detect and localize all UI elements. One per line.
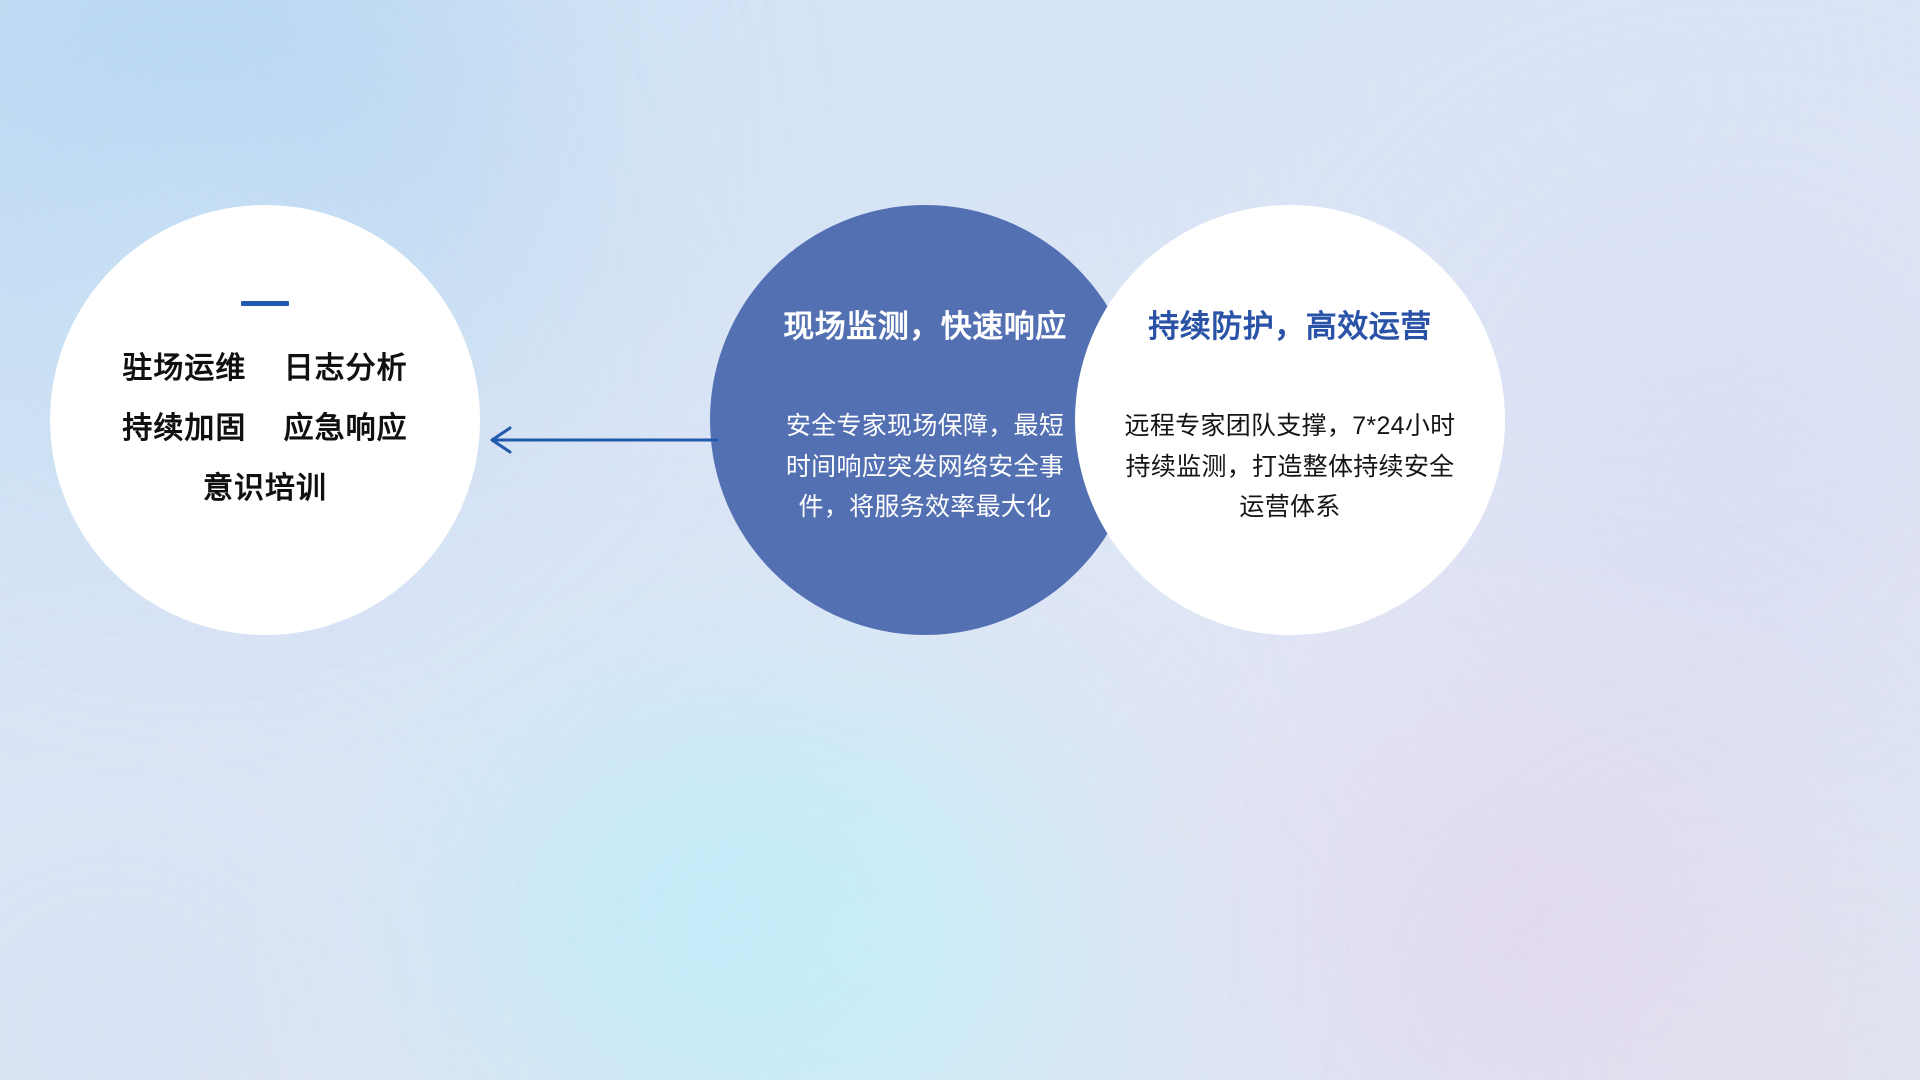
continuous-protection-title: 持续防护，高效运营 <box>1148 301 1432 346</box>
service-capabilities-content: 驻场运维 日志分析 持续加固 应急响应 意识培训 <box>50 205 480 635</box>
onsite-monitoring-body: 安全专家现场保障，最短时间响应突发网络安全事件，将服务效率最大化 <box>775 406 1075 528</box>
capability-line-3: 意识培训 <box>203 474 327 504</box>
accent-divider <box>241 301 289 306</box>
flow-arrow <box>480 415 720 465</box>
onsite-monitoring-title: 现场监测，快速响应 <box>783 301 1067 346</box>
capability-line-2: 持续加固 应急响应 <box>122 414 407 444</box>
capability-line-1: 驻场运维 日志分析 <box>122 354 407 384</box>
continuous-protection-content: 持续防护，高效运营 远程专家团队支撑，7*24小时持续监测，打造整体持续安全运营… <box>1075 205 1505 635</box>
continuous-protection-body: 远程专家团队支撑，7*24小时持续监测，打造整体持续安全运营体系 <box>1120 406 1460 528</box>
